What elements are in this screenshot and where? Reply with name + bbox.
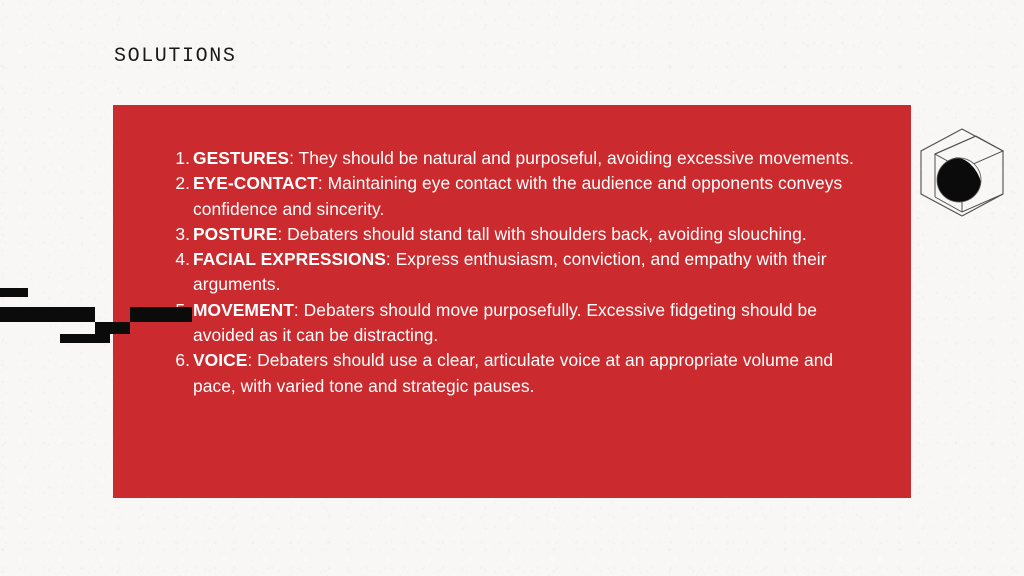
list-item-keyword: EYE-CONTACT [193,173,318,193]
list-item-keyword: POSTURE [193,224,277,244]
glitch-block [0,288,28,297]
list-item-body: : Debaters should stand tall with should… [277,224,806,244]
glitch-block [60,334,110,343]
list-item-keyword: FACIAL EXPRESSIONS [193,249,386,269]
list-item: 2.EYE-CONTACT: Maintaining eye contact w… [175,171,865,222]
list-item-number: 2. [175,171,190,196]
list-item: 5.MOVEMENT: Debaters should move purpose… [175,298,865,349]
glitch-blocks-decoration [0,280,140,342]
list-item-number: 4. [175,247,190,272]
glitch-block [95,322,130,334]
list-item: 1.GESTURES: They should be natural and p… [175,146,865,171]
list-item: 3.POSTURE: Debaters should stand tall wi… [175,222,865,247]
glitch-block [130,307,192,322]
list-item: 4.FACIAL EXPRESSIONS: Express enthusiasm… [175,247,865,298]
solutions-list: 1.GESTURES: They should be natural and p… [175,146,865,399]
list-item-number: 6. [175,348,190,373]
slide-canvas: SOLUTIONS 1.GESTURES: They should be nat… [0,0,1024,576]
list-item-number: 1. [175,146,190,171]
glitch-block [0,307,95,322]
content-panel: 1.GESTURES: They should be natural and p… [113,105,911,498]
list-item: 6.VOICE: Debaters should use a clear, ar… [175,348,865,399]
list-item-body: : They should be natural and purposeful,… [289,148,854,168]
list-item-keyword: VOICE [193,350,247,370]
page-title: SOLUTIONS [114,44,236,70]
hexagon-cube-wireframe-icon [916,126,1008,218]
list-item-body: : Debaters should use a clear, articulat… [193,350,833,395]
list-item-keyword: GESTURES [193,148,289,168]
list-item-keyword: MOVEMENT [193,300,294,320]
list-item-number: 3. [175,222,190,247]
